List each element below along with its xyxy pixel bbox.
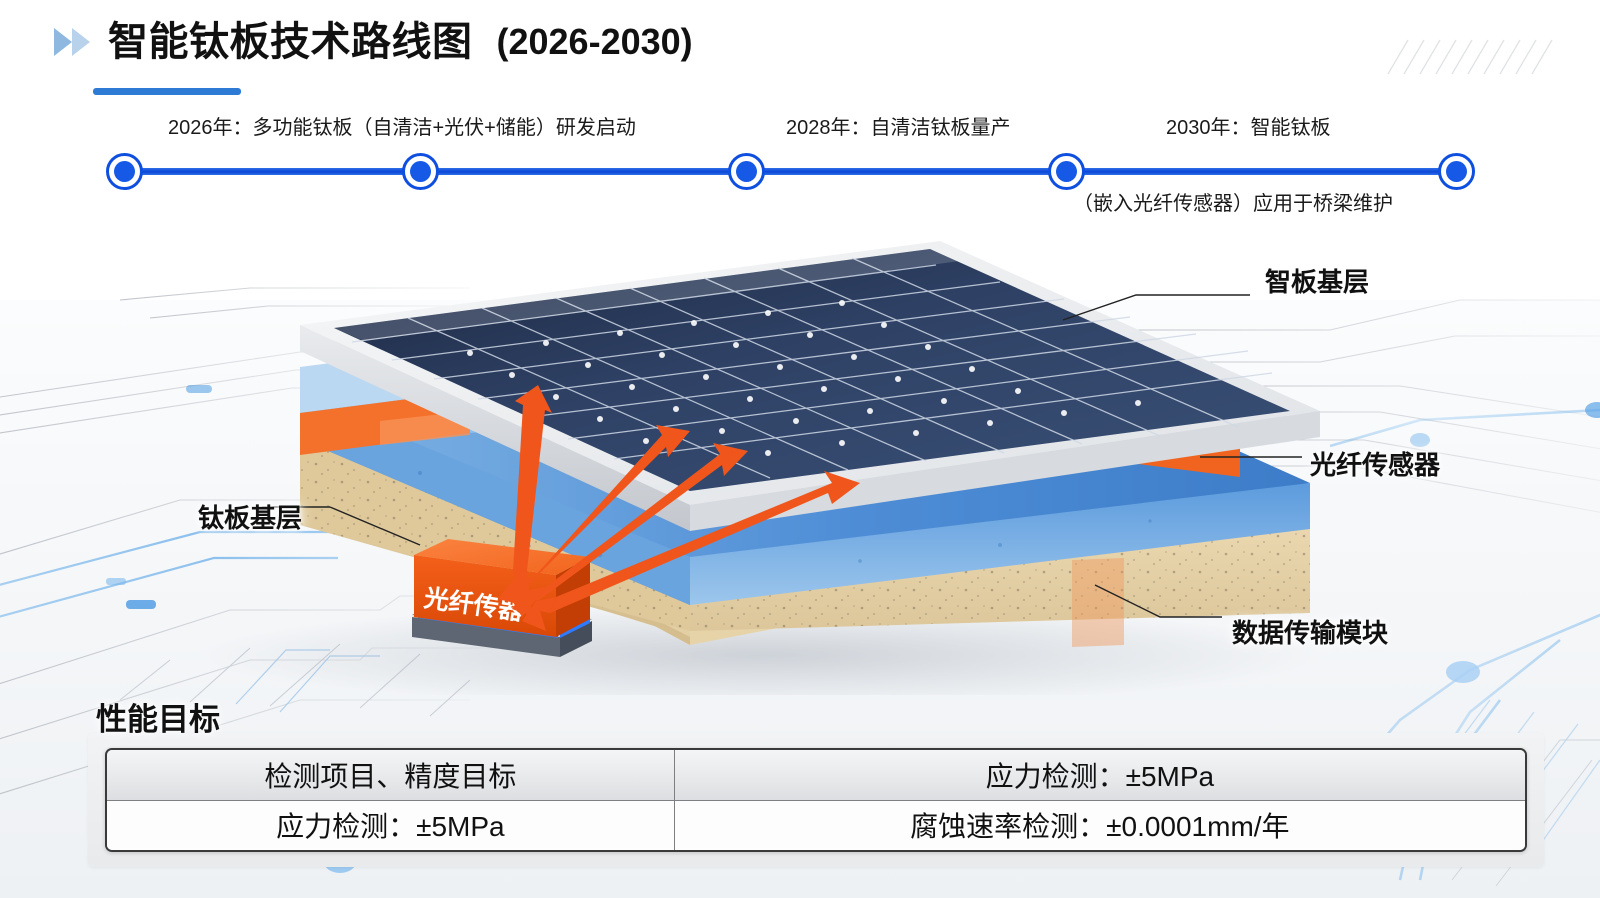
performance-targets-table: 检测项目、精度目标 应力检测：±5MPa 应力检测：±5MPa 腐蚀速率检测：±… (105, 748, 1527, 852)
roadmap-timeline: 2026年：多功能钛板（自清洁+光伏+储能）研发启动 2028年：自清洁钛板量产… (0, 112, 1600, 222)
table-row-header: 检测项目、精度目标 应力检测：±5MPa (107, 750, 1525, 800)
page-title-row: 智能钛板技术路线图 (2026-2030) (52, 22, 693, 62)
table-cell-r1c1: 腐蚀速率检测：±0.0001mm/年 (674, 800, 1525, 850)
callout-smart-board-base: 智板基层 (1265, 262, 1369, 299)
timeline-label-2028: 2028年：自清洁钛板量产 (786, 116, 1011, 141)
timeline-node-0[interactable] (106, 153, 143, 190)
table-cell-r0c1: 应力检测：±5MPa (674, 750, 1525, 800)
slide-canvas: 智能钛板技术路线图 (2026-2030) 2026年：多功能钛板（自清洁+光伏… (0, 0, 1600, 898)
timeline-node-2[interactable] (728, 153, 765, 190)
timeline-label-2026: 2026年：多功能钛板（自清洁+光伏+储能）研发启动 (168, 116, 636, 141)
timeline-node-1[interactable] (402, 153, 439, 190)
callout-fiber-optic-sensor: 光纤传感器 (1310, 445, 1440, 482)
timeline-track (124, 168, 1456, 175)
title-underline-accent (93, 88, 241, 95)
performance-section-title: 性能目标 (96, 694, 220, 739)
table-cell-r0c0: 检测项目、精度目标 (107, 750, 674, 800)
callout-data-transmission-module: 数据传输模块 (1232, 613, 1388, 650)
double-chevron-right-icon (52, 25, 94, 59)
timeline-label-2030: 2030年：智能钛板 (1166, 116, 1331, 141)
timeline-label-2030-sub: （嵌入光纤传感器）应用于桥梁维护 (1073, 192, 1393, 217)
table-cell-r1c0: 应力检测：±5MPa (107, 800, 674, 850)
table-row: 应力检测：±5MPa 腐蚀速率检测：±0.0001mm/年 (107, 800, 1525, 850)
diagonal-hatch-decoration (1382, 36, 1562, 78)
page-title: 智能钛板技术路线图 (108, 22, 473, 62)
timeline-node-3[interactable] (1048, 153, 1085, 190)
page-title-year-range: (2026-2030) (497, 24, 693, 60)
timeline-node-4[interactable] (1438, 153, 1475, 190)
callout-titanium-board-base: 钛板基层 (198, 498, 302, 535)
